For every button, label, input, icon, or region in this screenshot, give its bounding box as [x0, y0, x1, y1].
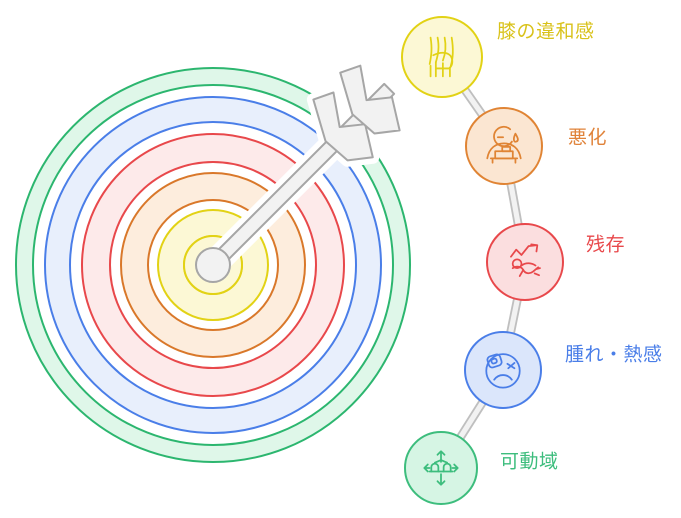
node-label-2: 悪化 [568, 127, 607, 149]
diagram-canvas: 膝の違和感悪化残存腫れ・熱感可動域 [0, 0, 681, 518]
connector-1-2 [461, 87, 485, 118]
connector-4-5 [457, 399, 486, 440]
connector-2-3 [507, 182, 522, 226]
flow-node-5[interactable] [405, 432, 477, 504]
node-circle-3[interactable] [487, 224, 563, 300]
connector-3-4 [507, 298, 521, 335]
node-circle-1[interactable] [402, 17, 482, 97]
flow-node-1[interactable] [402, 17, 482, 97]
node-label-1: 膝の違和感 [497, 21, 595, 43]
flow-node-2[interactable] [466, 108, 542, 184]
connector-fill [510, 298, 517, 333]
flow-node-4[interactable] [465, 332, 541, 408]
flow-node-3[interactable] [487, 224, 563, 300]
connector-fill [460, 401, 484, 438]
diagram-svg: 膝の違和感悪化残存腫れ・熱感可動域 [0, 0, 681, 518]
node-label-4: 腫れ・熱感 [565, 344, 663, 366]
connector-fill [464, 89, 483, 116]
node-circle-4[interactable] [465, 332, 541, 408]
node-label-3: 残存 [586, 234, 625, 256]
node-label-5: 可動域 [500, 451, 559, 473]
flow-nodes: 膝の違和感悪化残存腫れ・熱感可動域 [402, 17, 663, 504]
node-circle-5[interactable] [405, 432, 477, 504]
target-hub [196, 248, 230, 282]
